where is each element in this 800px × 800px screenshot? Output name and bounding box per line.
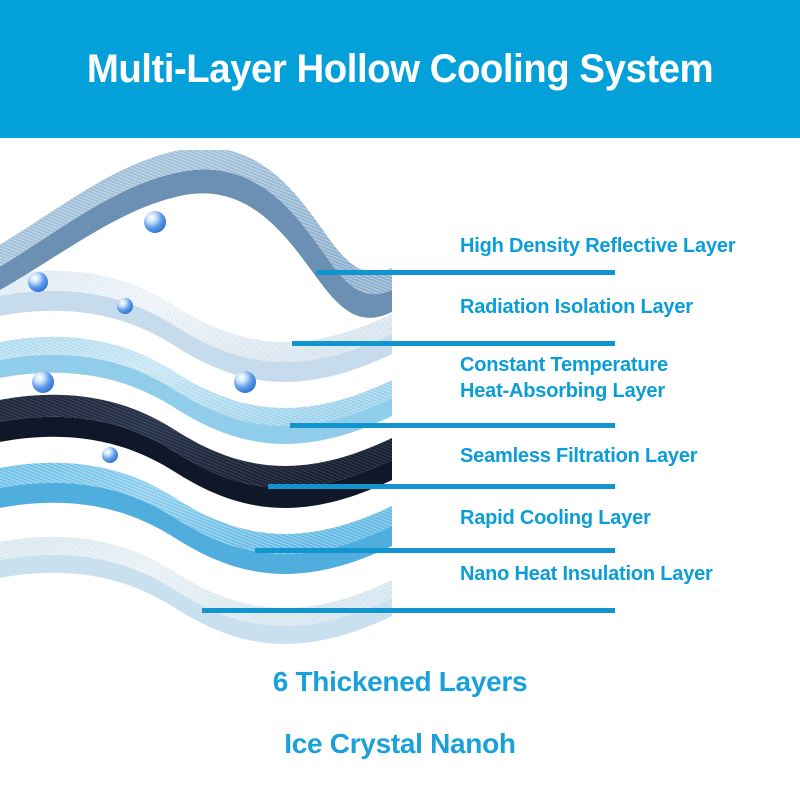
- layer-label-text: High Density Reflective Layer: [460, 235, 735, 257]
- layer-label-constant-temperature: Constant Temperature Heat-Absorbing Laye…: [460, 352, 668, 404]
- leader-line-high-density-reflective: [316, 270, 615, 275]
- leader-line-radiation-isolation: [292, 341, 615, 346]
- leader-line-seamless-filtration: [268, 484, 615, 489]
- layer-label-text-line2: Heat-Absorbing Layer: [460, 378, 668, 404]
- droplet: [32, 371, 54, 393]
- droplet: [117, 298, 133, 314]
- droplet: [144, 211, 166, 233]
- layer-label-rapid-cooling: Rapid Cooling Layer: [460, 505, 651, 531]
- layer-label-text: Nano Heat Insulation Layer: [460, 563, 713, 585]
- layered-fabric-illustration: [0, 150, 480, 650]
- layer-label-nano-heat-insulation: Nano Heat Insulation Layer: [460, 561, 713, 587]
- footer-subheadline: Ice Crystal Nanoh: [0, 728, 800, 760]
- leader-line-nano-heat-insulation: [202, 608, 615, 613]
- infographic-page: Multi-Layer Hollow Cooling System: [0, 0, 800, 800]
- leader-line-rapid-cooling: [255, 548, 615, 553]
- page-title: Multi-Layer Hollow Cooling System: [16, 0, 784, 138]
- layer-label-radiation-isolation: Radiation Isolation Layer: [460, 294, 693, 320]
- leader-line-constant-temperature: [290, 423, 615, 428]
- droplet: [234, 371, 256, 393]
- layer-label-seamless-filtration: Seamless Filtration Layer: [460, 443, 697, 469]
- header-band: Multi-Layer Hollow Cooling System: [0, 0, 800, 138]
- layer-label-text: Rapid Cooling Layer: [460, 507, 651, 529]
- layer-label-high-density-reflective: High Density Reflective Layer: [460, 233, 735, 259]
- layer-label-text: Radiation Isolation Layer: [460, 296, 693, 318]
- droplet: [28, 272, 48, 292]
- droplet: [102, 447, 118, 463]
- layer-label-text: Constant Temperature: [460, 354, 668, 376]
- footer-headline: 6 Thickened Layers: [0, 666, 800, 698]
- layer-label-text: Seamless Filtration Layer: [460, 445, 697, 467]
